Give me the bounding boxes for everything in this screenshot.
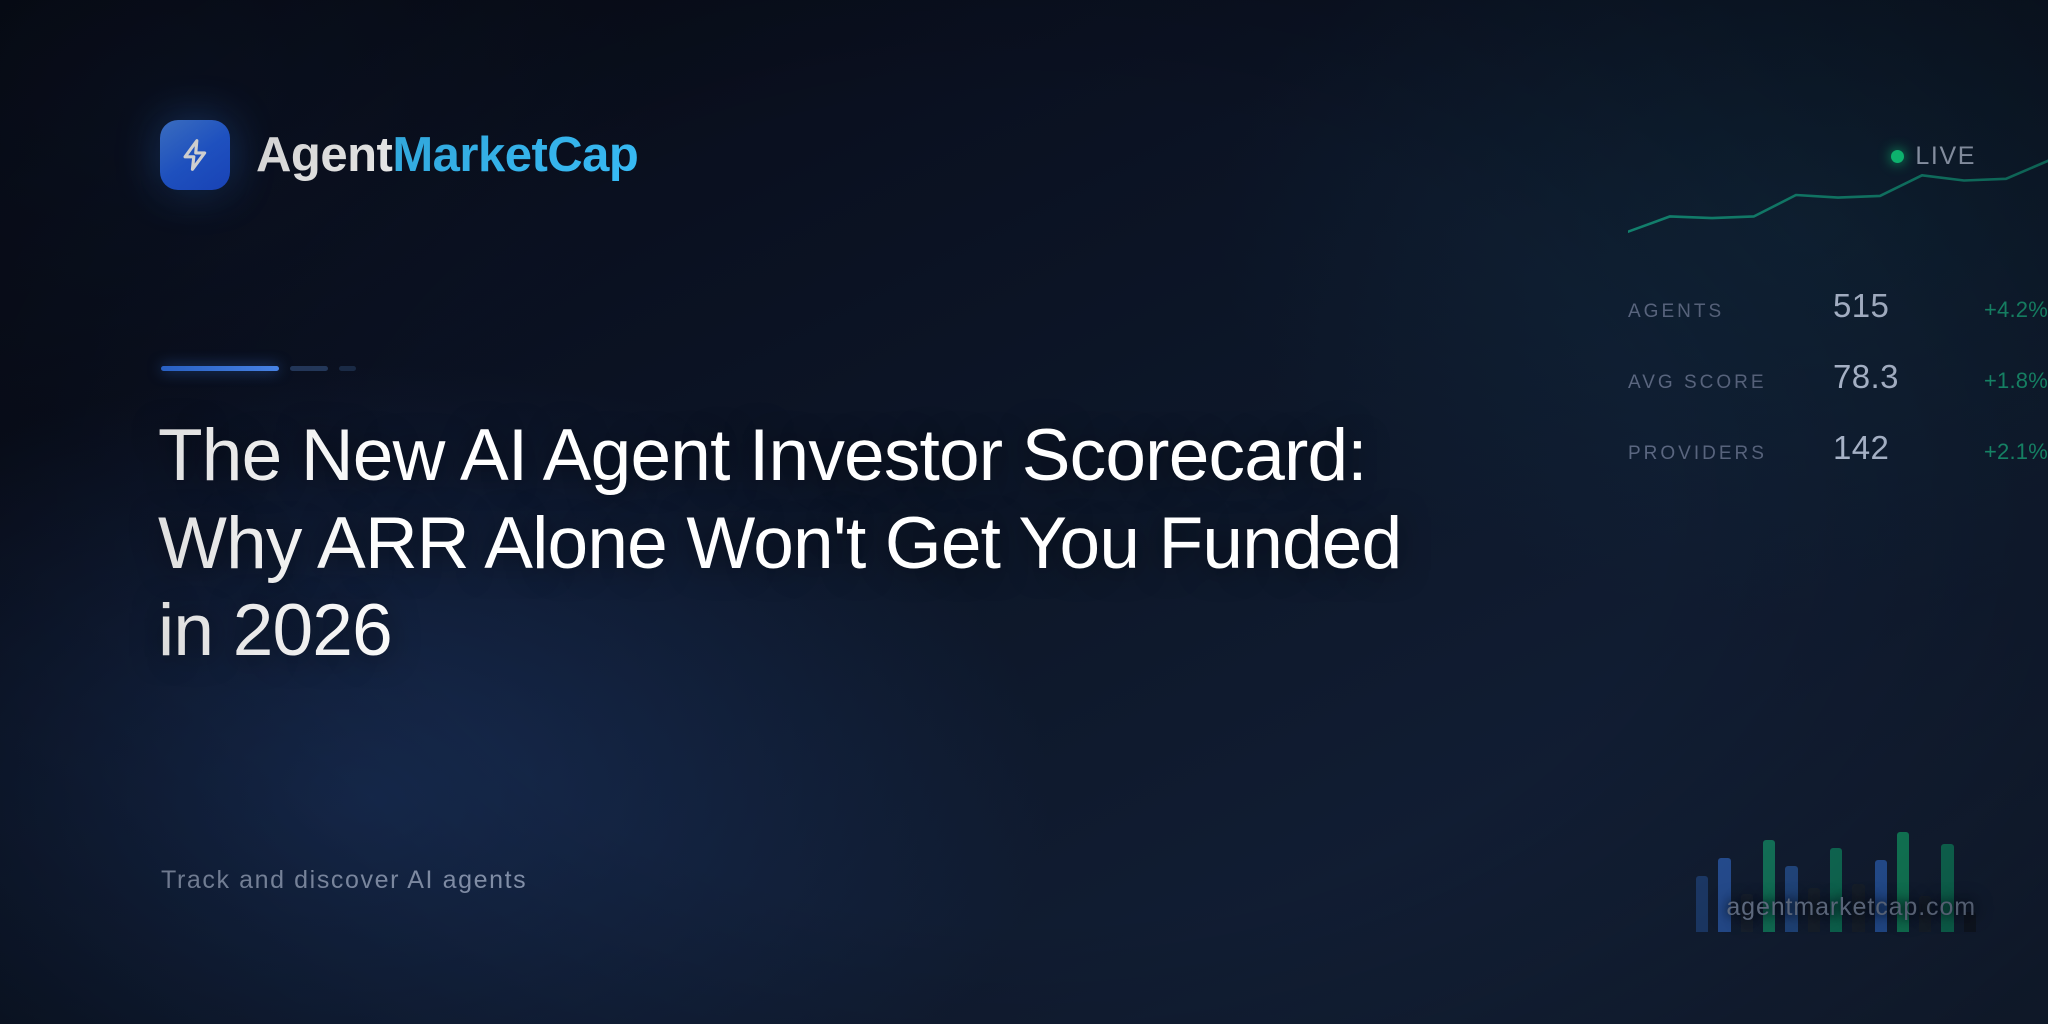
- page-title: The New AI Agent Investor Scorecard: Why…: [158, 412, 1458, 675]
- stat-value: 78.3: [1833, 358, 1956, 396]
- accent-dashes: [161, 366, 356, 371]
- stat-rows: AGENTS 515 +4.2% AVG SCORE 78.3 +1.8% PR…: [1628, 287, 2048, 500]
- brand-name-part2: MarketCap: [392, 128, 638, 182]
- lightning-bolt-icon: [160, 120, 230, 190]
- stat-change: +1.8%: [1956, 368, 2048, 394]
- accent-dash-2: [290, 366, 328, 371]
- brand-logo[interactable]: AgentMarketCap: [160, 120, 638, 190]
- social-share-card: AgentMarketCap The New AI Agent Investor…: [0, 0, 2048, 1024]
- brand-name-part1: Agent: [256, 128, 392, 182]
- site-url: agentmarketcap.com: [1726, 893, 1976, 922]
- accent-dash-1: [161, 366, 279, 371]
- stat-value: 515: [1833, 287, 1956, 325]
- stat-change: +2.1%: [1956, 439, 2048, 465]
- live-status-badge: LIVE: [1891, 142, 1976, 171]
- stat-label: PROVIDERS: [1628, 443, 1833, 465]
- live-status-dot: [1891, 150, 1904, 163]
- live-sparkline-chart: [1628, 140, 2048, 250]
- stat-label: AVG SCORE: [1628, 372, 1833, 394]
- stat-change: +4.2%: [1956, 297, 2048, 323]
- accent-dash-3: [339, 366, 356, 371]
- tagline: Track and discover AI agents: [161, 866, 527, 895]
- brand-wordmark: AgentMarketCap: [256, 131, 638, 180]
- stat-row-agents: AGENTS 515 +4.2%: [1628, 287, 2048, 358]
- live-status-label: LIVE: [1915, 142, 1976, 171]
- stat-row-providers: PROVIDERS 142 +2.1%: [1628, 429, 2048, 500]
- stats-panel: LIVE AGENTS 515 +4.2% AVG SCORE 78.3 +1.…: [1628, 140, 2048, 470]
- stat-label: AGENTS: [1628, 301, 1833, 323]
- stat-row-avg-score: AVG SCORE 78.3 +1.8%: [1628, 358, 2048, 429]
- bar: [1696, 876, 1708, 932]
- stat-value: 142: [1833, 429, 1956, 467]
